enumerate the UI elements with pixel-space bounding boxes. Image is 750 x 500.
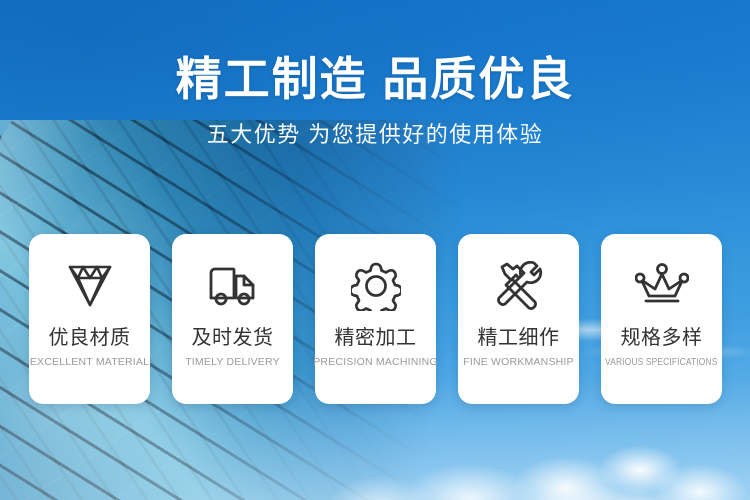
banner-headings: 精工制造 品质优良 五大优势 为您提供好的使用体验 — [0, 54, 750, 148]
page-subtitle: 五大优势 为您提供好的使用体验 — [0, 122, 750, 148]
crown-icon — [634, 258, 690, 314]
feature-title-en: EXCELLENT MATERIAL — [30, 357, 149, 368]
feature-card-precision-machining[interactable]: 精密加工 PRECISION MACHINING — [315, 234, 436, 404]
feature-title-cn: 优良材质 — [49, 328, 131, 348]
feature-title-en: TIMELY DELIVERY — [185, 357, 280, 368]
feature-card-list: 优良材质 EXCELLENT MATERIAL 及时发货 TIMELY DELI… — [29, 234, 722, 404]
feature-title-en: VARIOUS SPECIFICATIONS — [605, 357, 717, 368]
feature-title-cn: 及时发货 — [192, 328, 274, 348]
page-title: 精工制造 品质优良 — [0, 54, 750, 106]
gear-icon — [348, 258, 404, 314]
diamond-icon — [62, 258, 118, 314]
feature-title-cn: 精工细作 — [478, 328, 560, 348]
hammer-wrench-icon — [491, 258, 547, 314]
feature-card-excellent-material[interactable]: 优良材质 EXCELLENT MATERIAL — [29, 234, 150, 404]
feature-card-timely-delivery[interactable]: 及时发货 TIMELY DELIVERY — [172, 234, 293, 404]
feature-title-en: FINE WORKMANSHIP — [463, 357, 574, 368]
feature-title-cn: 精密加工 — [335, 328, 417, 348]
feature-title-en: PRECISION MACHINING — [313, 357, 438, 368]
feature-card-fine-workmanship[interactable]: 精工细作 FINE WORKMANSHIP — [458, 234, 579, 404]
promo-banner: 精工制造 品质优良 五大优势 为您提供好的使用体验 优良材质 EXCELLENT… — [0, 0, 750, 500]
delivery-truck-icon — [205, 258, 261, 314]
feature-title-cn: 规格多样 — [621, 328, 703, 348]
feature-card-various-specifications[interactable]: 规格多样 VARIOUS SPECIFICATIONS — [601, 234, 722, 404]
